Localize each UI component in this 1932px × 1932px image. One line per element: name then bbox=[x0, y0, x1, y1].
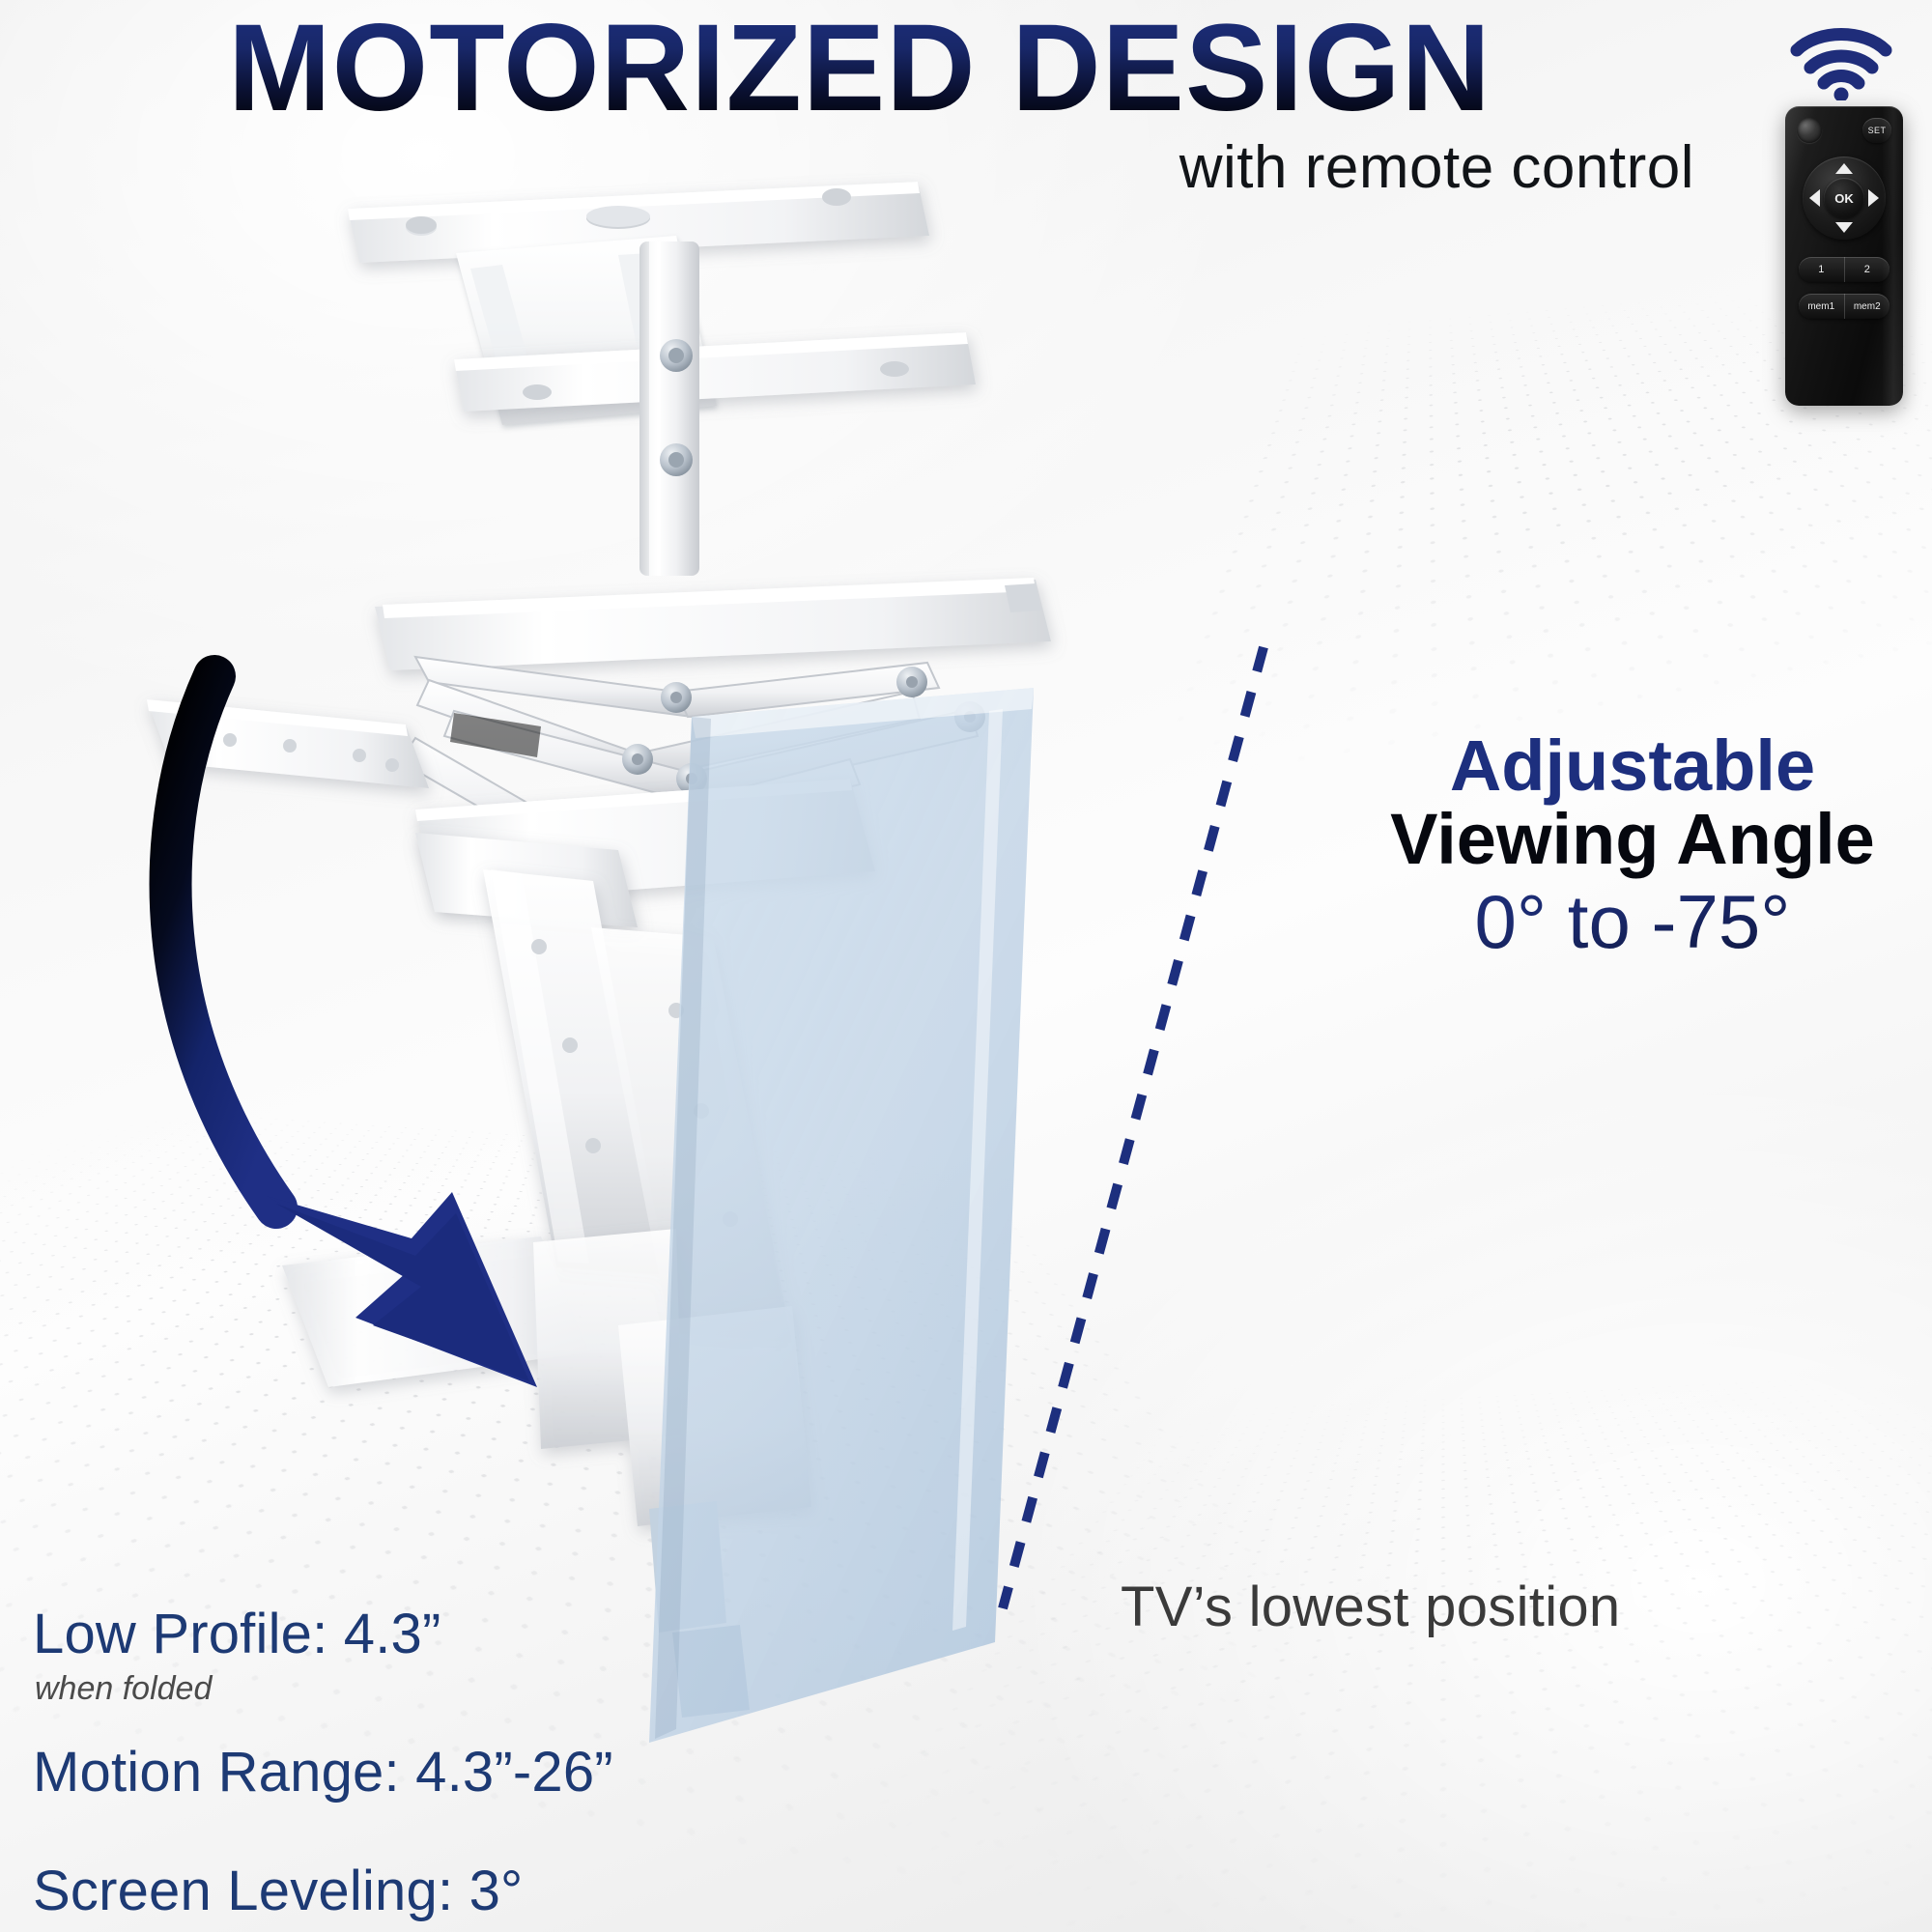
pole-screw-lower bbox=[660, 443, 693, 476]
set-button[interactable]: SET bbox=[1862, 118, 1891, 143]
callout-angle-range: 0° to -75° bbox=[1352, 883, 1913, 962]
headline-block: MOTORIZED DESIGN with remote control bbox=[0, 6, 1719, 199]
lower-mount-plate bbox=[454, 332, 976, 412]
page-title: MOTORIZED DESIGN bbox=[0, 6, 1719, 132]
headline-subtitle: with remote control bbox=[0, 136, 1719, 199]
scissor-top-housing bbox=[375, 578, 1051, 670]
spec-low-profile-note: when folded bbox=[35, 1668, 728, 1710]
arrow-down-icon[interactable] bbox=[1835, 222, 1853, 233]
callout-line-adjustable: Adjustable bbox=[1352, 730, 1913, 802]
arrow-up-icon[interactable] bbox=[1835, 163, 1853, 174]
curved-rotation-arrow bbox=[171, 676, 537, 1387]
wifi-signal-icon bbox=[1789, 25, 1893, 100]
spec-motion-range: Motion Range: 4.3”-26” bbox=[33, 1742, 728, 1804]
dashed-angle-reference-line bbox=[985, 638, 1275, 1623]
viewing-angle-callout: Adjustable Viewing Angle 0° to -75° bbox=[1352, 730, 1913, 962]
support-pole bbox=[639, 241, 699, 576]
memory-button-row: mem1 mem2 bbox=[1799, 294, 1889, 319]
vesa-wing-plates bbox=[282, 1229, 811, 1526]
mem2-button[interactable]: mem2 bbox=[1844, 294, 1890, 319]
preset-2-button[interactable]: 2 bbox=[1844, 257, 1890, 282]
callout-line-viewing-angle: Viewing Angle bbox=[1352, 802, 1913, 877]
preset-1-button[interactable]: 1 bbox=[1799, 257, 1844, 282]
ceiling-bracket-body bbox=[456, 236, 717, 425]
dpad-control[interactable]: OK bbox=[1803, 156, 1886, 240]
spec-list: Low Profile: 4.3” when folded Motion Ran… bbox=[33, 1604, 728, 1923]
infographic-canvas: MOTORIZED DESIGN with remote control SET… bbox=[0, 0, 1932, 1932]
ok-button[interactable]: OK bbox=[1824, 178, 1864, 218]
vesa-center-plate bbox=[415, 779, 875, 904]
spec-screen-leveling: Screen Leveling: 3° bbox=[33, 1861, 728, 1923]
ir-led-indicator bbox=[1797, 118, 1822, 143]
remote-control[interactable]: SET OK 1 2 mem1 mem2 bbox=[1785, 106, 1903, 406]
translucent-tv-panel bbox=[649, 688, 1034, 1743]
scissor-lift-mechanism bbox=[400, 657, 985, 856]
preset-button-row: 1 2 bbox=[1799, 257, 1889, 282]
pole-screw-upper bbox=[660, 339, 693, 372]
background-texture-bottom-right bbox=[639, 1371, 1932, 1932]
vesa-extension-arms bbox=[483, 869, 792, 1343]
lowest-position-label: TV’s lowest position bbox=[1121, 1575, 1662, 1639]
spec-low-profile: Low Profile: 4.3” bbox=[33, 1604, 728, 1666]
arrow-left-icon[interactable] bbox=[1809, 189, 1820, 207]
vesa-arm-lower-left bbox=[415, 833, 638, 927]
arrow-right-icon[interactable] bbox=[1868, 189, 1879, 207]
vesa-arm-left bbox=[147, 699, 429, 788]
mem1-button[interactable]: mem1 bbox=[1799, 294, 1844, 319]
